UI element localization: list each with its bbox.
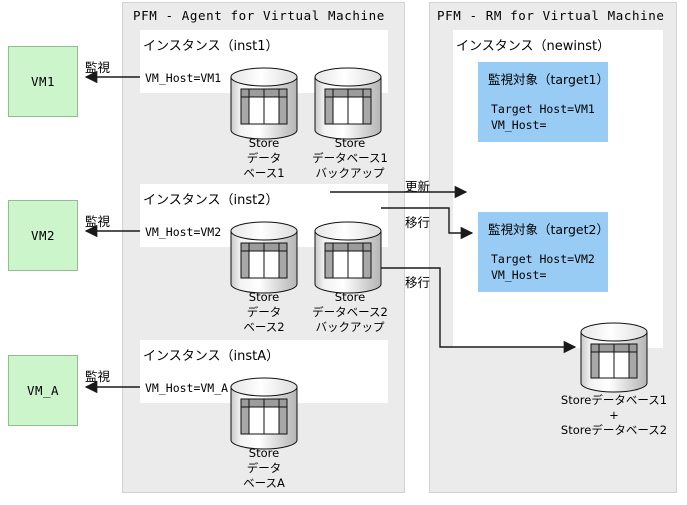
watch-label-vma: 監視 bbox=[85, 366, 110, 385]
instance-title-newinst: インスタンス（newinst） bbox=[456, 35, 610, 54]
target-vmhost-target1: VM_Host= bbox=[491, 118, 546, 132]
watch-label-vm1: 監視 bbox=[85, 57, 110, 76]
vm-label-vm1: VM1 bbox=[31, 74, 55, 89]
panel-agent-title: PFM - Agent for Virtual Machine bbox=[133, 8, 385, 23]
target-host-target2: Target Host=VM2 bbox=[491, 252, 595, 266]
vm-box-vm2: VM2 bbox=[8, 200, 78, 271]
db-caption-inst2-backup: Store データベース2 バックアップ bbox=[300, 290, 400, 335]
target-box-target1: 監視対象（target1） Target Host=VM1 VM_Host= bbox=[478, 62, 608, 142]
arrow-label-migrate1: 移行 bbox=[405, 212, 430, 231]
target-host-target1: Target Host=VM1 bbox=[491, 102, 595, 116]
db-caption-instA-main: Store データ ベースA bbox=[218, 446, 310, 491]
instance-title-inst1: インスタンス（inst1） bbox=[143, 35, 278, 54]
target-title-target2: 監視対象（target2） bbox=[488, 219, 609, 238]
target-box-target2: 監視対象（target2） Target Host=VM2 VM_Host= bbox=[478, 212, 608, 292]
target-vmhost-target2: VM_Host= bbox=[491, 268, 546, 282]
vm-label-vma: VM_A bbox=[27, 383, 59, 398]
target-title-target1: 監視対象（target1） bbox=[488, 69, 609, 88]
arrow-label-update: 更新 bbox=[405, 176, 430, 195]
db-caption-rm-merged: Storeデータベース1 + Storeデータベース2 bbox=[541, 393, 687, 438]
db-caption-inst2-main: Store データ ベース2 bbox=[218, 290, 310, 335]
arrow-label-migrate2: 移行 bbox=[405, 272, 430, 291]
db-caption-inst1-backup: Store データベース1 バックアップ bbox=[300, 136, 400, 181]
vm-box-vm1: VM1 bbox=[8, 46, 78, 117]
instance-title-inst2: インスタンス（inst2） bbox=[143, 189, 278, 208]
instance-title-instA: インスタンス（instA） bbox=[143, 345, 279, 364]
vm-label-vm2: VM2 bbox=[31, 228, 55, 243]
db-caption-inst1-main: Store データ ベース1 bbox=[218, 136, 310, 181]
vm-host-instA: VM_Host=VM_A bbox=[145, 381, 228, 395]
vm-box-vma: VM_A bbox=[8, 355, 78, 426]
vm-host-inst1: VM_Host=VM1 bbox=[145, 71, 221, 85]
watch-label-vm2: 監視 bbox=[85, 211, 110, 230]
vm-host-inst2: VM_Host=VM2 bbox=[145, 225, 221, 239]
diagram-canvas: PFM - Agent for Virtual Machine PFM - RM… bbox=[0, 0, 687, 505]
panel-rm-title: PFM - RM for Virtual Machine bbox=[437, 8, 665, 23]
